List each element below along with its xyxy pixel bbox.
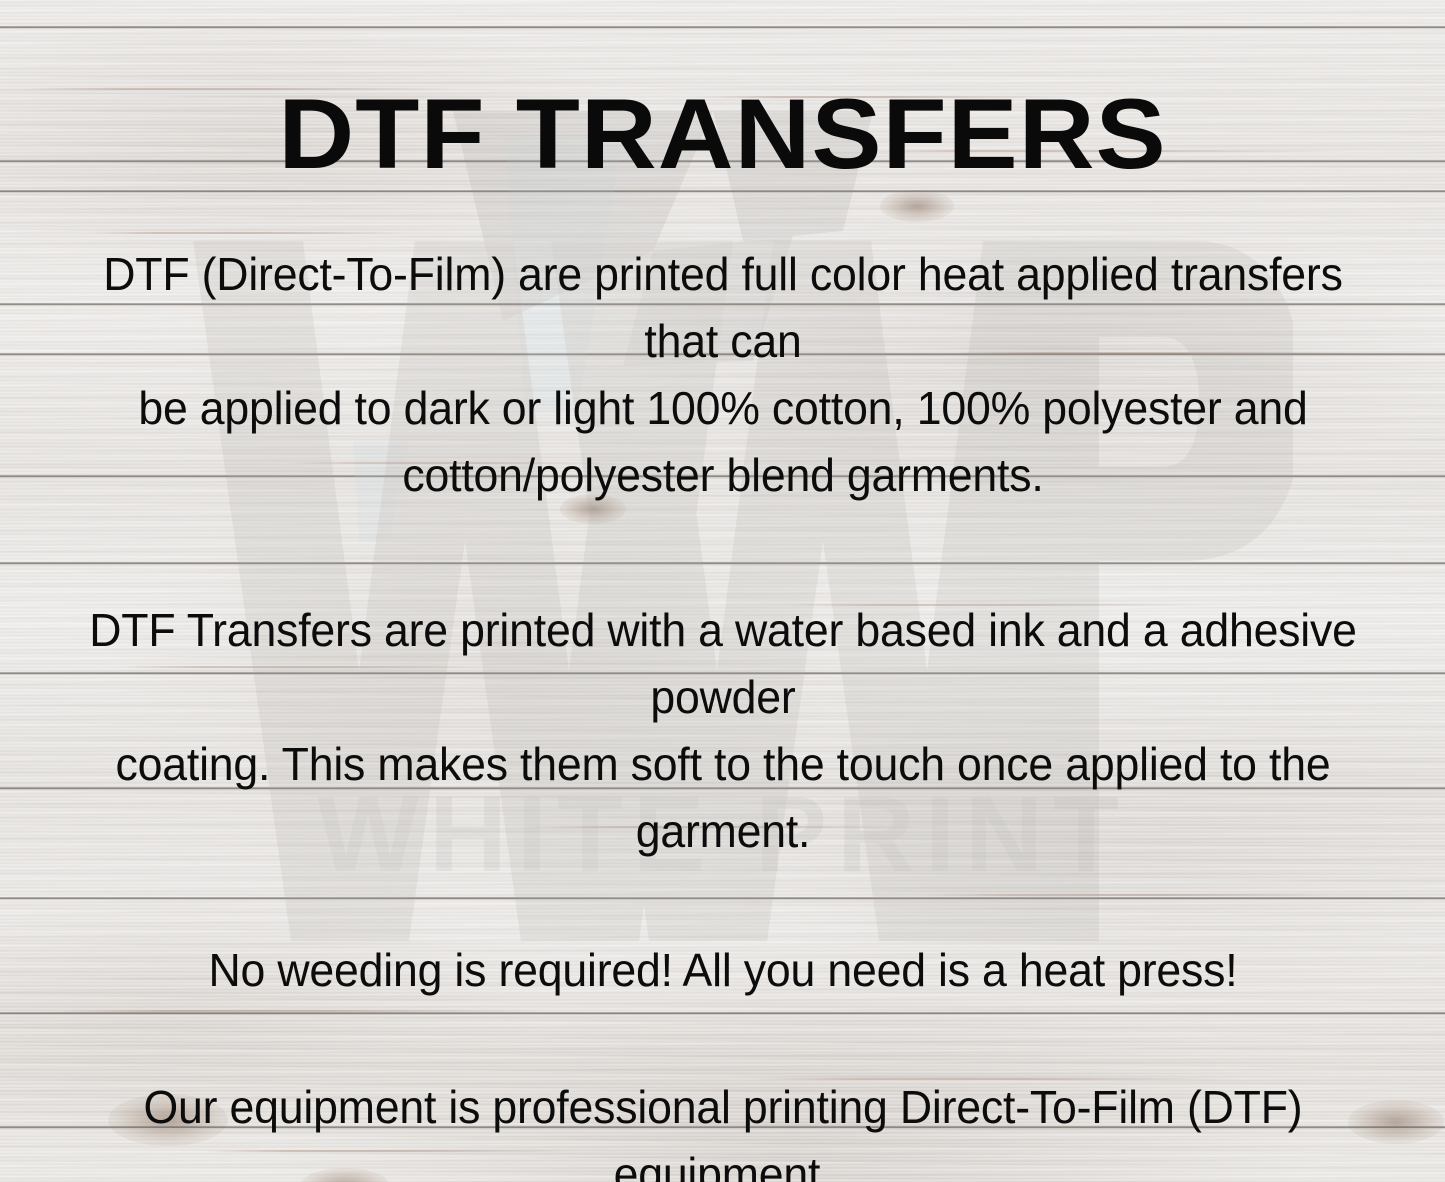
paragraph-1: DTF (Direct-To-Film) are printed full co… [63, 241, 1382, 509]
paragraph-1-line-1: DTF (Direct-To-Film) are printed full co… [63, 241, 1382, 375]
paragraph-spacer-1 [63, 509, 1382, 597]
paragraph-3: No weeding is required! All you need is … [63, 937, 1382, 1004]
poster-body: DTF (Direct-To-Film) are printed full co… [63, 185, 1382, 1182]
poster-content: DTF TRANSFERS DTF (Direct-To-Film) are p… [0, 0, 1445, 1182]
paragraph-2: DTF Transfers are printed with a water b… [63, 597, 1382, 865]
paragraph-1-line-3: cotton/polyester blend garments. [63, 442, 1382, 509]
paragraph-1-line-2: be applied to dark or light 100% cotton,… [63, 375, 1382, 442]
paragraph-3-line-1: No weeding is required! All you need is … [63, 937, 1382, 1004]
dtf-transfers-poster: WHITE PRINT DTF TRANSFERS DTF (Direct-To… [0, 0, 1445, 1182]
paragraph-spacer-2 [63, 865, 1382, 937]
paragraph-4-line-1: Our equipment is professional printing D… [63, 1074, 1382, 1182]
paragraph-2-line-2: coating. This makes them soft to the tou… [63, 731, 1382, 865]
paragraph-4: Our equipment is professional printing D… [63, 1074, 1382, 1182]
paragraph-spacer-3 [63, 1004, 1382, 1074]
paragraph-2-line-1: DTF Transfers are printed with a water b… [63, 597, 1382, 731]
page-title: DTF TRANSFERS [0, 0, 1445, 185]
